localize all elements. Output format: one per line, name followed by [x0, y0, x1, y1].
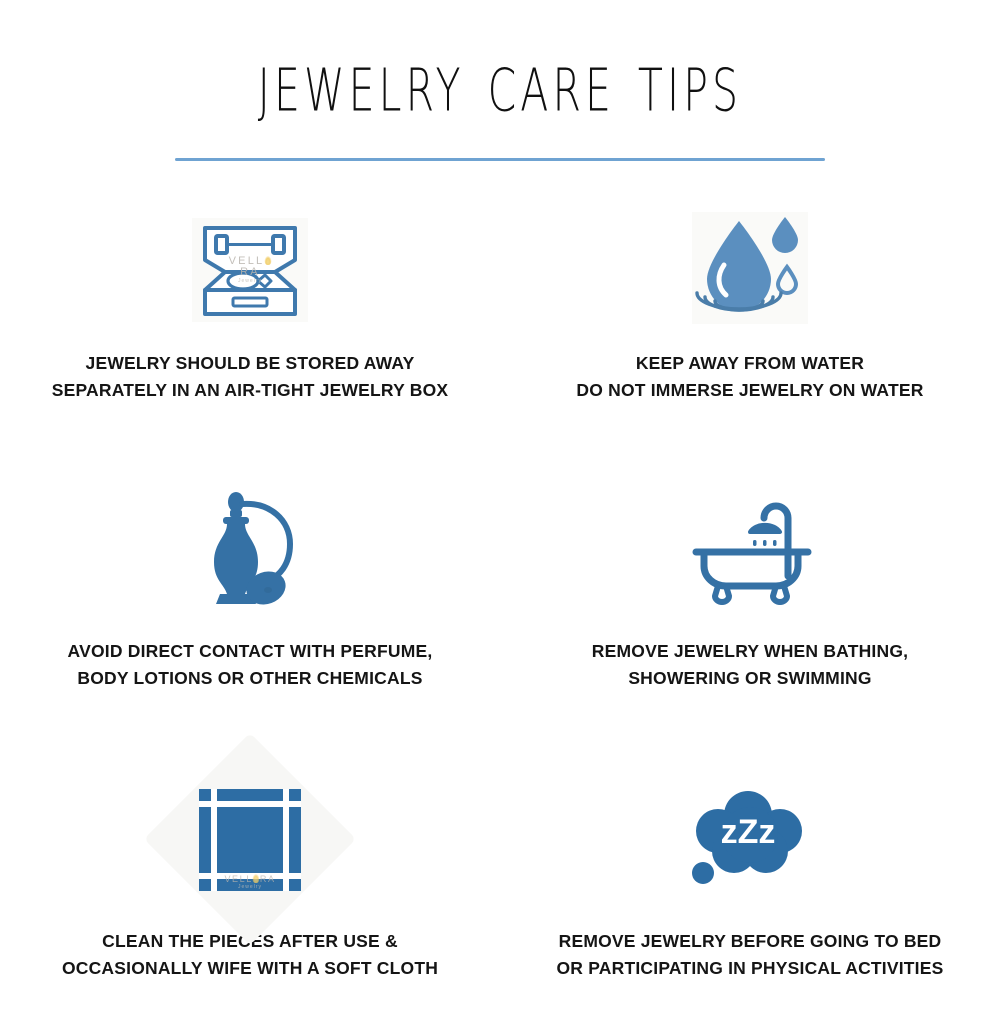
- tip-card-chemicals: AVOID DIRECT CONTACT WITH PERFUME, BODY …: [0, 472, 500, 744]
- tip-caption-bathing: REMOVE JEWELRY WHEN BATHING, SHOWERING O…: [592, 638, 908, 692]
- perfume-bottle-icon-wrap: [194, 486, 306, 614]
- caption-line: OR PARTICIPATING IN PHYSICAL ACTIVITIES: [557, 955, 944, 982]
- sleep-zzz-text: zZz: [721, 813, 776, 851]
- page-title: Jewelry Care Tips: [90, 36, 910, 128]
- jewelry-box-icon-wrap: VELLRA Jewelry: [191, 210, 309, 328]
- tip-caption-chemicals: AVOID DIRECT CONTACT WITH PERFUME, BODY …: [68, 638, 433, 692]
- caption-line: REMOVE JEWELRY BEFORE GOING TO BED: [557, 928, 944, 955]
- water-drop-icon: [687, 213, 813, 325]
- tip-card-water: KEEP AWAY FROM WATER DO NOT IMMERSE JEWE…: [500, 210, 1000, 472]
- sleep-cloud-icon: zZz: [686, 785, 814, 895]
- tip-card-bathing: REMOVE JEWELRY WHEN BATHING, SHOWERING O…: [500, 472, 1000, 744]
- tips-grid: VELLRA Jewelry JEWELRY SHOULD BE STORED …: [0, 210, 1000, 1010]
- jewelry-box-icon: [191, 216, 309, 322]
- caption-line: SEPARATELY IN AN AIR-TIGHT JEWELRY BOX: [52, 377, 449, 404]
- tip-card-cleaning: VELLRA Jewelry CLEAN THE PIECES AFTER US…: [0, 744, 500, 1010]
- title-divider: [175, 158, 825, 161]
- caption-line: KEEP AWAY FROM WATER: [576, 350, 923, 377]
- tip-caption-water: KEEP AWAY FROM WATER DO NOT IMMERSE JEWE…: [576, 350, 923, 404]
- bathtub-shower-icon: [684, 492, 816, 608]
- sleep-cloud-icon-wrap: zZz: [686, 774, 814, 906]
- caption-line: JEWELRY SHOULD BE STORED AWAY: [52, 350, 449, 377]
- polishing-cloth-icon: [195, 785, 305, 895]
- polishing-cloth-icon-wrap: VELLRA Jewelry: [195, 774, 305, 906]
- caption-line: SHOWERING OR SWIMMING: [592, 665, 908, 692]
- caption-line: OCCASIONALLY WIFE WITH A SOFT CLOTH: [62, 955, 438, 982]
- jewelry-care-tips-infographic: Jewelry Care Tips: [0, 0, 1000, 1000]
- caption-line: BODY LOTIONS OR OTHER CHEMICALS: [68, 665, 433, 692]
- tip-caption-sleep: REMOVE JEWELRY BEFORE GOING TO BED OR PA…: [557, 928, 944, 982]
- caption-line: REMOVE JEWELRY WHEN BATHING,: [592, 638, 908, 665]
- tip-caption-storage: JEWELRY SHOULD BE STORED AWAY SEPARATELY…: [52, 350, 449, 404]
- perfume-bottle-icon: [194, 490, 306, 610]
- water-drop-icon-wrap: [687, 210, 813, 328]
- tip-card-sleep: zZz REMOVE JEWELRY BEFORE GOING TO BED O…: [500, 744, 1000, 1010]
- bathtub-shower-icon-wrap: [684, 486, 816, 614]
- caption-line: AVOID DIRECT CONTACT WITH PERFUME,: [68, 638, 433, 665]
- header: Jewelry Care Tips: [0, 0, 1000, 161]
- tip-card-storage: VELLRA Jewelry JEWELRY SHOULD BE STORED …: [0, 210, 500, 472]
- caption-line: DO NOT IMMERSE JEWELRY ON WATER: [576, 377, 923, 404]
